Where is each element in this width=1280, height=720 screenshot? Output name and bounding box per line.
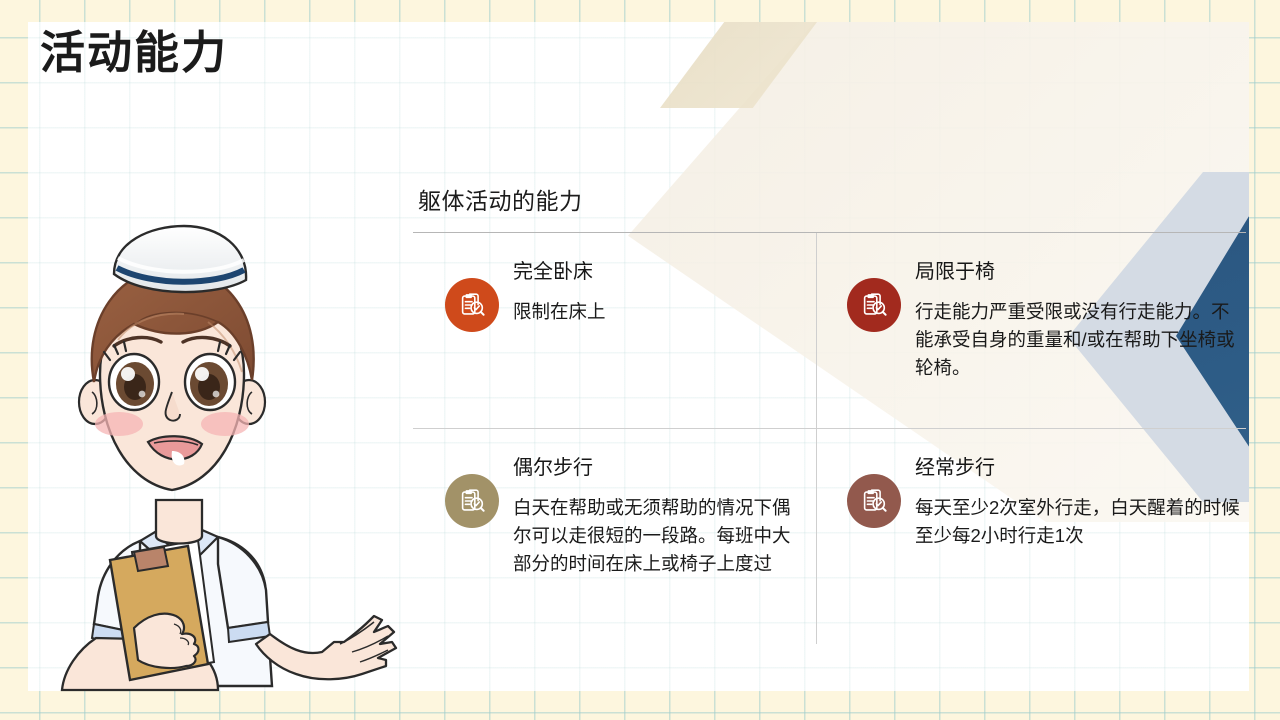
clipboard-magnifier-check-icon [457,486,487,516]
celltext-chairfast: 局限于椅 行走能力严重受限或没有行走能力。不能承受自身的重量和/或在帮助下坐椅或… [915,259,1240,408]
content-block: 躯体活动的能力 [413,182,1248,644]
badge-chairfast [847,278,901,332]
cell-title-chairfast: 局限于椅 [915,259,1240,286]
nurse-illustration [22,224,432,694]
badge-occasional [445,474,499,528]
cell-desc-frequent: 每天至少2次室外行走，白天醒着的时候至少每2小时行走1次 [915,494,1240,550]
cell-frequent[interactable]: 经常步行 每天至少2次室外行走，白天醒着的时候至少每2小时行走1次 [817,429,1248,644]
ability-grid: 完全卧床 限制在床上 [413,233,1248,644]
cell-desc-occasional: 白天在帮助或无须帮助的情况下偶尔可以走很短的一段路。每班中大部分的时间在床上或椅… [513,494,808,578]
celltext-frequent: 经常步行 每天至少2次室外行走，白天醒着的时候至少每2小时行走1次 [915,455,1240,624]
cell-occasional[interactable]: 偶尔步行 白天在帮助或无须帮助的情况下偶尔可以走很短的一段路。每班中大部分的时间… [413,429,816,644]
cell-chairfast[interactable]: 局限于椅 行走能力严重受限或没有行走能力。不能承受自身的重量和/或在帮助下坐椅或… [817,233,1248,428]
cell-title-bedfast: 完全卧床 [513,259,808,286]
section-heading: 躯体活动的能力 [413,182,1248,232]
page-title: 活动能力 [40,26,228,80]
cell-desc-chairfast: 行走能力严重受限或没有行走能力。不能承受自身的重量和/或在帮助下坐椅或轮椅。 [915,298,1240,382]
cell-bedfast[interactable]: 完全卧床 限制在床上 [413,233,816,428]
celltext-occasional: 偶尔步行 白天在帮助或无须帮助的情况下偶尔可以走很短的一段路。每班中大部分的时间… [513,455,808,624]
clipboard-magnifier-check-icon [457,290,487,320]
clipboard-magnifier-check-icon [859,290,889,320]
clipboard-magnifier-check-icon [859,486,889,516]
cell-desc-bedfast: 限制在床上 [513,298,808,326]
badge-bedfast [445,278,499,332]
badge-frequent [847,474,901,528]
cell-title-occasional: 偶尔步行 [513,455,808,482]
tan-sliver-shape [660,22,820,108]
celltext-bedfast: 完全卧床 限制在床上 [513,259,808,408]
cell-title-frequent: 经常步行 [915,455,1240,482]
